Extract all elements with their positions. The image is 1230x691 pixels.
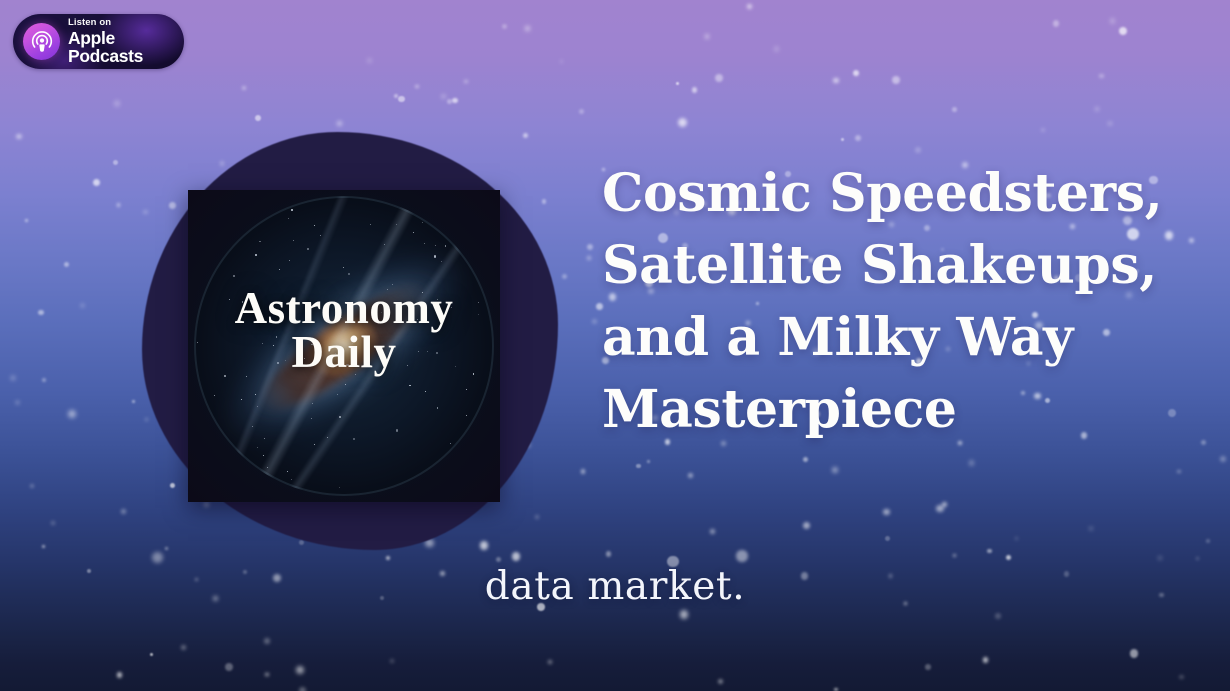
- star-dot: [42, 545, 45, 548]
- star-dot: [114, 100, 121, 107]
- listen-on-apple-podcasts-badge[interactable]: Listen on Apple Podcasts: [13, 14, 184, 69]
- galaxy-star-dot: [370, 224, 371, 225]
- star-dot: [1110, 18, 1116, 24]
- galaxy-star-dot: [291, 479, 292, 480]
- galaxy-star-dot: [279, 269, 280, 270]
- star-dot: [42, 378, 46, 382]
- star-dot: [38, 310, 43, 315]
- galaxy-star-dot: [437, 407, 438, 408]
- episode-title-line-2: Satellite Shakeups,: [602, 230, 1202, 302]
- galaxy-star-dot: [466, 415, 467, 416]
- star-dot: [587, 244, 593, 250]
- star-dot: [525, 26, 530, 31]
- star-dot: [606, 551, 611, 556]
- star-dot: [560, 60, 564, 64]
- galaxy-star-dot: [425, 391, 426, 392]
- star-dot: [512, 552, 521, 561]
- star-dot: [64, 262, 69, 267]
- show-title-line-1: Astronomy: [235, 283, 454, 333]
- galaxy-star-dot: [424, 243, 425, 244]
- star-dot: [447, 99, 452, 104]
- star-dot: [676, 82, 679, 85]
- galaxy-star-dot: [396, 224, 397, 225]
- star-dot: [636, 464, 641, 469]
- star-dot: [983, 657, 989, 663]
- star-dot: [892, 76, 900, 84]
- galaxy-star-dot: [353, 438, 355, 440]
- badge-listen-label: Listen on: [68, 18, 184, 28]
- episode-title: Cosmic Speedsters, Satellite Shakeups, a…: [602, 158, 1202, 446]
- star-dot: [242, 86, 246, 90]
- star-dot: [841, 138, 844, 141]
- badge-text-group: Listen on Apple Podcasts: [68, 18, 184, 66]
- star-dot: [853, 70, 859, 76]
- star-dot: [855, 135, 861, 141]
- star-dot: [942, 502, 947, 507]
- star-dot: [579, 109, 585, 115]
- brand-wordmark: data market.: [0, 564, 1230, 609]
- star-dot: [1099, 74, 1104, 79]
- star-dot: [30, 484, 34, 488]
- galaxy-star-dot: [264, 438, 265, 439]
- galaxy-star-dot: [267, 467, 268, 468]
- star-dot: [832, 467, 838, 473]
- galaxy-star-dot: [345, 384, 346, 385]
- galaxy-star-dot: [287, 471, 288, 472]
- star-dot: [803, 457, 809, 463]
- star-dot: [25, 219, 28, 222]
- star-dot: [68, 410, 76, 418]
- star-dot: [774, 46, 780, 52]
- star-dot: [736, 550, 748, 562]
- galaxy-star-dot: [307, 248, 309, 250]
- star-dot: [718, 679, 723, 684]
- galaxy-star-dot: [214, 395, 215, 396]
- galaxy-star-dot: [434, 255, 436, 257]
- star-dot: [452, 98, 458, 104]
- star-dot: [299, 687, 307, 691]
- galaxy-star-dot: [241, 399, 242, 400]
- star-dot: [883, 509, 889, 515]
- star-dot: [1041, 128, 1045, 132]
- star-dot: [11, 376, 15, 380]
- star-dot: [1119, 27, 1127, 35]
- star-dot: [953, 554, 956, 557]
- galaxy-star-dot: [409, 385, 410, 386]
- galaxy-star-dot: [257, 406, 258, 407]
- star-dot: [1179, 675, 1184, 680]
- galaxy-star-dot: [441, 261, 442, 262]
- star-dot: [995, 613, 1001, 619]
- star-dot: [1095, 107, 1100, 112]
- star-dot: [710, 529, 715, 534]
- galaxy-star-dot: [422, 222, 423, 223]
- episode-title-line-1: Cosmic Speedsters,: [602, 158, 1202, 230]
- galaxy-star-dot: [263, 455, 264, 456]
- galaxy-star-dot: [337, 394, 338, 395]
- star-dot: [987, 549, 992, 554]
- galaxy-star-dot: [312, 403, 313, 404]
- galaxy-star-dot: [255, 254, 257, 256]
- star-dot: [1015, 537, 1018, 540]
- star-dot: [680, 610, 688, 618]
- galaxy-star-dot: [233, 275, 235, 277]
- star-dot: [969, 460, 975, 466]
- star-dot: [225, 663, 233, 671]
- star-dot: [117, 672, 122, 677]
- galaxy-star-dot: [327, 437, 328, 438]
- star-dot: [915, 147, 921, 153]
- star-dot: [398, 96, 404, 102]
- galaxy-star-dot: [259, 241, 260, 242]
- galaxy-star-dot: [246, 376, 247, 377]
- star-dot: [1108, 122, 1112, 126]
- star-dot: [394, 94, 398, 98]
- star-dot: [464, 80, 467, 83]
- star-dot: [952, 107, 957, 112]
- star-dot: [1177, 470, 1180, 473]
- star-dot: [692, 87, 698, 93]
- podcast-artwork[interactable]: Astronomy Daily: [108, 120, 578, 540]
- star-dot: [51, 521, 55, 525]
- episode-title-line-4: Masterpiece: [602, 374, 1202, 446]
- galaxy-star-dot: [343, 267, 344, 268]
- star-dot: [367, 58, 372, 63]
- artwork-cover-panel: Astronomy Daily: [188, 190, 500, 502]
- star-dot: [16, 401, 19, 404]
- galaxy-star-dot: [339, 487, 340, 488]
- star-dot: [480, 541, 489, 550]
- star-dot: [803, 522, 810, 529]
- star-dot: [1196, 557, 1199, 560]
- galaxy-star-dot: [435, 245, 436, 246]
- star-dot: [855, 73, 859, 77]
- star-dot: [502, 24, 507, 29]
- star-dot: [81, 304, 85, 308]
- show-title-line-2: Daily: [188, 330, 500, 374]
- show-title-overlay: Astronomy Daily: [188, 286, 500, 374]
- star-dot: [93, 179, 100, 186]
- galaxy-star-dot: [255, 394, 256, 395]
- galaxy-star-dot: [450, 443, 451, 444]
- star-dot: [688, 473, 693, 478]
- apple-podcasts-icon: [23, 23, 60, 60]
- galaxy-star-dot: [314, 444, 315, 445]
- star-dot: [1158, 556, 1162, 560]
- galaxy-star-dot: [291, 209, 293, 211]
- galaxy-star-dot: [289, 260, 290, 261]
- star-dot: [747, 4, 752, 9]
- galaxy-star-dot: [413, 232, 414, 233]
- star-dot: [647, 460, 650, 463]
- star-dot: [1053, 20, 1059, 26]
- galaxy-star-dot: [445, 245, 446, 246]
- star-dot: [264, 638, 269, 643]
- star-dot: [181, 645, 186, 650]
- star-dot: [386, 556, 390, 560]
- star-dot: [833, 78, 839, 84]
- star-dot: [415, 85, 418, 88]
- star-dot: [299, 540, 304, 545]
- star-dot: [16, 134, 22, 140]
- star-dot: [441, 94, 447, 100]
- episode-title-line-3: and a Milky Way: [602, 302, 1202, 374]
- galaxy-star-dot: [224, 375, 226, 377]
- star-dot: [581, 469, 586, 474]
- galaxy-star-dot: [396, 429, 398, 431]
- star-dot: [296, 666, 304, 674]
- galaxy-star-dot: [320, 235, 321, 236]
- galaxy-star-dot: [348, 273, 350, 275]
- star-dot: [587, 256, 591, 260]
- star-dot: [390, 659, 395, 664]
- star-dot: [150, 653, 153, 656]
- episode-promo-card: Listen on Apple Podcasts Astronomy Daily…: [0, 0, 1230, 691]
- badge-platform-label: Apple Podcasts: [68, 30, 184, 65]
- galaxy-star-dot: [252, 426, 253, 427]
- galaxy-star-dot: [466, 389, 467, 390]
- star-dot: [1006, 555, 1011, 560]
- star-dot: [592, 319, 597, 324]
- star-dot: [1130, 649, 1139, 658]
- star-dot: [165, 547, 169, 551]
- galaxy-star-dot: [293, 240, 294, 241]
- galaxy-star-dot: [339, 416, 341, 418]
- galaxy-star-dot: [384, 244, 385, 245]
- galaxy-star-dot: [311, 418, 312, 419]
- galaxy-star-dot: [314, 225, 315, 226]
- star-dot: [152, 552, 163, 563]
- star-dot: [496, 557, 501, 562]
- star-dot: [936, 505, 943, 512]
- star-dot: [548, 660, 552, 664]
- star-dot: [885, 536, 890, 541]
- star-dot: [925, 664, 931, 670]
- star-dot: [1206, 539, 1210, 543]
- star-dot: [1220, 456, 1226, 462]
- star-dot: [1089, 527, 1092, 530]
- galaxy-star-dot: [288, 218, 289, 219]
- galaxy-star-dot: [257, 447, 258, 448]
- star-dot: [715, 74, 724, 83]
- star-dot: [705, 34, 709, 38]
- star-dot: [678, 118, 687, 127]
- star-dot: [265, 673, 269, 677]
